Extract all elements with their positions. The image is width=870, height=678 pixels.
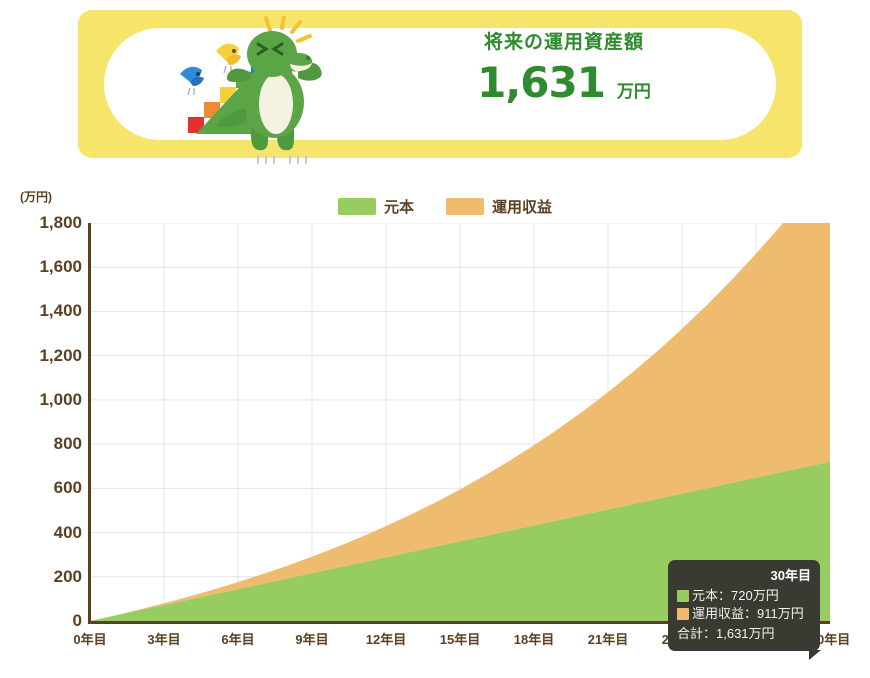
x-tick-label: 18年目: [514, 629, 554, 648]
legend-item-principal[interactable]: 元本: [338, 196, 414, 217]
hero-unit: 万円: [617, 77, 651, 102]
hero-banner: 将来の運用資産額 1,631 万円: [78, 10, 802, 158]
y-tick-label: 800: [54, 434, 82, 454]
hero-title: 将来の運用資産額: [378, 32, 750, 54]
legend-label-returns: 運用収益: [492, 196, 552, 217]
y-tick-label: 1,800: [39, 213, 82, 233]
tooltip-row-principal: 元本：720万円: [677, 587, 811, 605]
hero-text-block: 将来の運用資産額 1,631 万円: [378, 32, 750, 106]
y-tick-label: 1,400: [39, 301, 82, 321]
chart-tooltip: 30年目 元本：720万円 運用収益：911万円 合計：1,631万円: [668, 560, 820, 651]
y-tick-label: 1,600: [39, 257, 82, 277]
tooltip-swatch-principal: [677, 590, 689, 602]
y-tick-label: 1,000: [39, 390, 82, 410]
x-tick-label: 3年目: [147, 629, 180, 648]
x-tick-label: 0年目: [73, 629, 106, 648]
legend-label-principal: 元本: [384, 196, 414, 217]
y-tick-label: 400: [54, 523, 82, 543]
tooltip-row-returns: 運用収益：911万円: [677, 605, 811, 623]
legend-swatch-principal: [338, 198, 376, 215]
tooltip-pointer: [809, 650, 821, 660]
tooltip-label-principal: 元本：720万円: [692, 587, 779, 605]
x-tick-label: 6年目: [221, 629, 254, 648]
legend-item-returns[interactable]: 運用収益: [446, 196, 552, 217]
y-tick-label: 1,200: [39, 346, 82, 366]
y-axis-unit-label: (万円): [20, 188, 52, 205]
x-tick-label: 21年目: [588, 629, 628, 648]
y-tick-label: 600: [54, 478, 82, 498]
y-tick-label: 0: [73, 611, 82, 631]
hero-amount: 1,631: [477, 60, 605, 106]
tooltip-label-returns: 運用収益：911万円: [692, 605, 804, 623]
crocodile-mascot-icon: [174, 16, 330, 166]
x-tick-label: 9年目: [295, 629, 328, 648]
y-tick-label: 200: [54, 567, 82, 587]
y-axis-line: [88, 223, 91, 624]
chart-legend: 元本 運用収益: [338, 196, 552, 217]
tooltip-swatch-returns: [677, 608, 689, 620]
chart-plot-area[interactable]: 02004006008001,0001,2001,4001,6001,800 0…: [0, 215, 870, 678]
legend-swatch-returns: [446, 198, 484, 215]
hero-value-row: 1,631 万円: [378, 60, 750, 106]
x-tick-label: 15年目: [440, 629, 480, 648]
tooltip-title: 30年目: [677, 567, 811, 584]
tooltip-total: 合計：1,631万円: [677, 624, 811, 643]
x-tick-label: 12年目: [366, 629, 406, 648]
